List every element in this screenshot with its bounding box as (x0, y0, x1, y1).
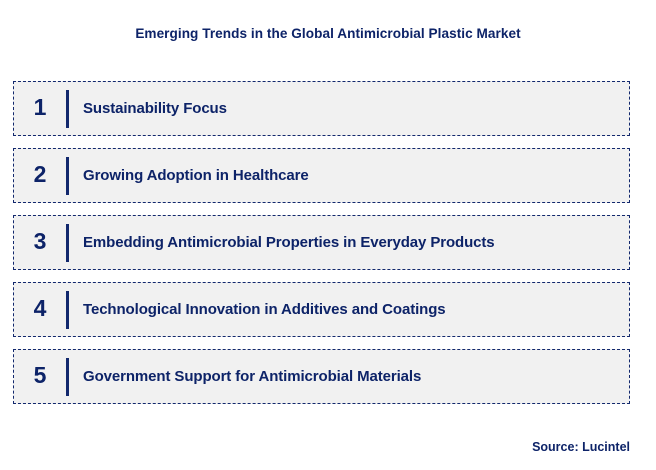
trend-rank: 3 (14, 230, 66, 255)
list-item[interactable]: 5 Government Support for Antimicrobial M… (13, 349, 630, 404)
trend-rank: 5 (14, 364, 66, 389)
list-item[interactable]: 2 Growing Adoption in Healthcare (13, 148, 630, 203)
page-title: Emerging Trends in the Global Antimicrob… (0, 26, 656, 41)
trend-label: Technological Innovation in Additives an… (69, 301, 629, 318)
trend-label: Government Support for Antimicrobial Mat… (69, 368, 629, 385)
trend-label: Embedding Antimicrobial Properties in Ev… (69, 234, 629, 251)
list-item[interactable]: 4 Technological Innovation in Additives … (13, 282, 630, 337)
trend-rank: 2 (14, 163, 66, 188)
trend-rank: 4 (14, 297, 66, 322)
list-item[interactable]: 1 Sustainability Focus (13, 81, 630, 136)
infographic-canvas: Emerging Trends in the Global Antimicrob… (0, 0, 656, 470)
list-item[interactable]: 3 Embedding Antimicrobial Properties in … (13, 215, 630, 270)
trend-rank: 1 (14, 96, 66, 121)
source-attribution: Source: Lucintel (532, 440, 630, 454)
trend-list: 1 Sustainability Focus 2 Growing Adoptio… (13, 81, 630, 404)
trend-label: Growing Adoption in Healthcare (69, 167, 629, 184)
trend-label: Sustainability Focus (69, 100, 629, 117)
